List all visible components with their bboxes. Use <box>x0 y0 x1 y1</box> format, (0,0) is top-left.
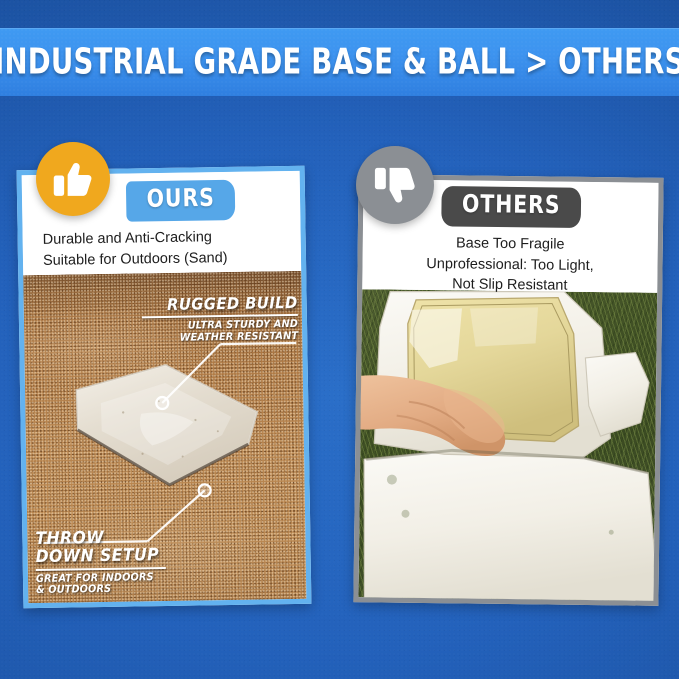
callout-throw-subtitle-line-2: & OUTDOORS <box>36 583 160 597</box>
others-description: Base Too Fragile Unprofessional: Too Lig… <box>368 232 652 297</box>
ours-description-line-2: Suitable for Outdoors (Sand) <box>43 247 295 272</box>
ours-photo: RUGGED BUILD ULTRA STURDY AND WEATHER RE… <box>23 271 306 603</box>
callout-throw-down-setup: THROW DOWN SETUP GREAT FOR INDOORS & OUT… <box>35 528 170 597</box>
panel-ours: OURS Durable and Anti-Cracking Suitable … <box>17 166 312 608</box>
ours-badge: OURS <box>126 180 236 222</box>
callout-throw-title-line-2: DOWN SETUP <box>36 546 160 566</box>
flimsy-base-product <box>358 289 657 601</box>
others-description-line-3: Not Slip Resistant <box>368 273 651 297</box>
thumbs-down-glyph <box>372 162 419 209</box>
home-plate-product <box>70 358 264 492</box>
thumbs-up-icon <box>36 142 110 216</box>
others-badge: OTHERS <box>441 186 581 228</box>
callout-rugged-title: RUGGED BUILD <box>154 293 298 314</box>
banner-title: INDUSTRIAL GRADE BASE & BALL > OTHERS <box>0 41 679 82</box>
others-photo <box>358 289 657 601</box>
callout-rugged-subtitle-line-2: WEATHER RESISTANT <box>155 331 299 345</box>
thumbs-up-glyph <box>51 157 95 201</box>
headline-banner: INDUSTRIAL GRADE BASE & BALL > OTHERS <box>0 28 679 96</box>
ours-description: Durable and Anti-Cracking Suitable for O… <box>29 226 296 271</box>
callout-rugged-build: RUGGED BUILD ULTRA STURDY AND WEATHER RE… <box>142 293 299 345</box>
thumbs-down-icon <box>356 146 434 224</box>
panel-others: OTHERS Base Too Fragile Unprofessional: … <box>353 174 663 606</box>
